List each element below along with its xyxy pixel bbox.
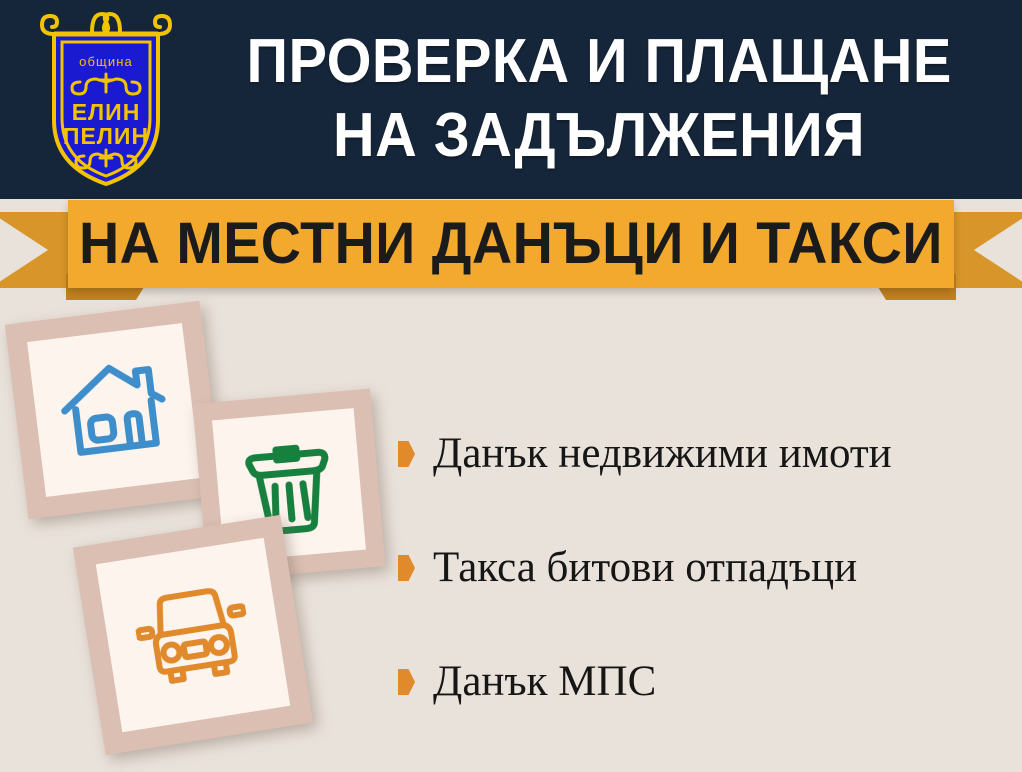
ribbon-banner: НА МЕСТНИ ДАНЪЦИ И ТАКСИ bbox=[68, 200, 954, 288]
stamp-paper bbox=[27, 323, 201, 497]
stamp-card-car bbox=[73, 515, 313, 755]
arrow-bullet-icon bbox=[398, 669, 415, 695]
coat-of-arms-icon: община ЕЛИН ПЕЛИН bbox=[36, 8, 176, 190]
arrow-bullet-icon bbox=[398, 555, 415, 581]
service-list: Данък недвижими имоти Такса битови отпад… bbox=[398, 418, 1012, 718]
list-item: Такса битови отпадъци bbox=[398, 532, 1012, 604]
poster-canvas: община ЕЛИН ПЕЛИН ПРОВЕРКА И ПЛАЩАНЕ НА … bbox=[0, 0, 1022, 772]
subtitle-ribbon: НА МЕСТНИ ДАНЪЦИ И ТАКСИ bbox=[0, 198, 1022, 302]
svg-text:ЕЛИН: ЕЛИН bbox=[72, 99, 141, 125]
service-label: Данък МПС bbox=[433, 657, 656, 707]
list-item: Данък МПС bbox=[398, 646, 1012, 718]
stamp-illustration-group bbox=[0, 300, 420, 772]
page-title: ПРОВЕРКА И ПЛАЩАНЕ НА ЗАДЪЛЖЕНИЯ bbox=[176, 14, 1022, 184]
svg-text:община: община bbox=[79, 54, 133, 69]
service-label: Такса битови отпадъци bbox=[433, 543, 857, 593]
arrow-bullet-icon bbox=[398, 441, 415, 467]
stamp-card-house bbox=[5, 301, 223, 519]
service-label: Данък недвижими имоти bbox=[433, 429, 892, 479]
svg-text:ПЕЛИН: ПЕЛИН bbox=[63, 123, 149, 149]
page-title-line-2: НА ЗАДЪЛЖЕНИЯ bbox=[333, 99, 865, 173]
list-item: Данък недвижими имоти bbox=[398, 418, 1012, 490]
page-title-line-1: ПРОВЕРКА И ПЛАЩАНЕ bbox=[246, 25, 951, 99]
ribbon-label: НА МЕСТНИ ДАНЪЦИ И ТАКСИ bbox=[79, 214, 943, 274]
car-icon bbox=[130, 579, 256, 691]
stamp-paper bbox=[96, 538, 291, 733]
house-icon bbox=[54, 354, 173, 466]
